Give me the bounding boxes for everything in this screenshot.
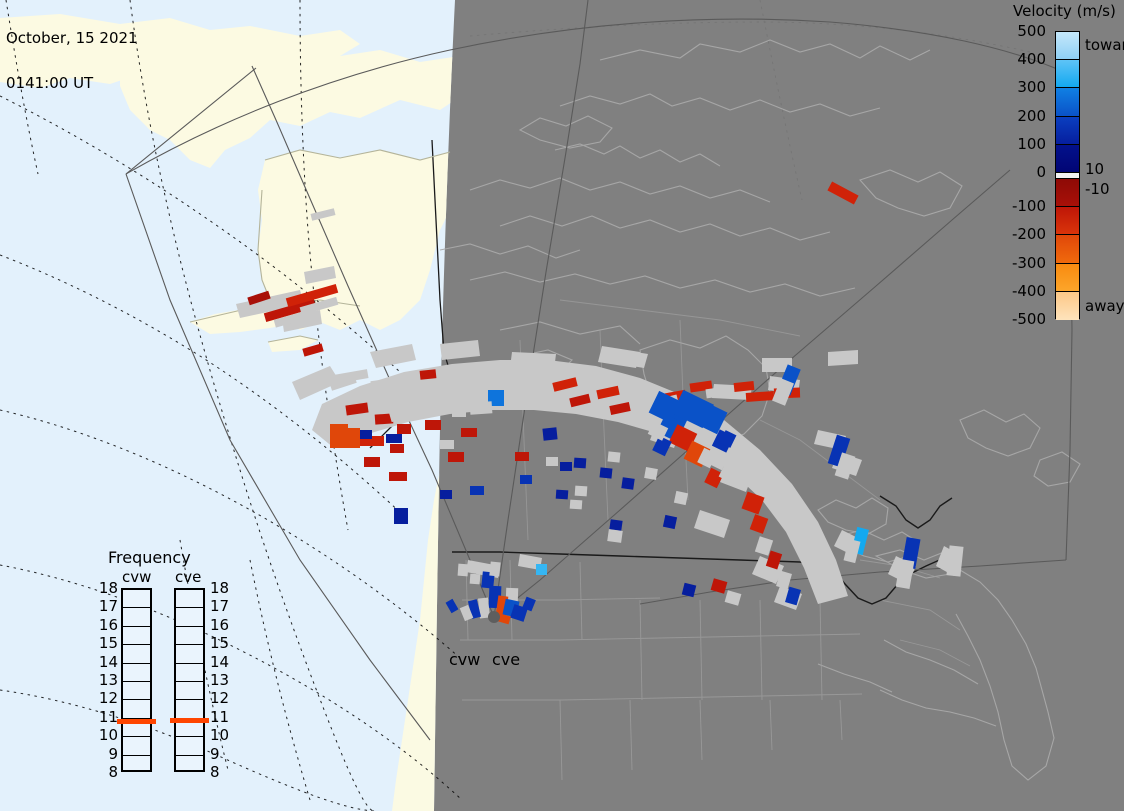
radar-origin-marker (488, 611, 500, 623)
timestamp: October, 15 2021 0141:00 UT (6, 1, 138, 121)
frequency-tick-right-11: 11 (210, 708, 229, 726)
frequency-tick-left-14: 14 (96, 653, 118, 671)
colorbar-band-350 (1056, 60, 1079, 88)
frequency-tick-left-8: 8 (96, 763, 118, 781)
frequency-segment (176, 664, 203, 682)
timestamp-date: October, 15 2021 (6, 31, 138, 46)
frequency-segment (176, 700, 203, 718)
colorbar-band-450 (1056, 32, 1079, 60)
frequency-tick-right-13: 13 (210, 671, 229, 689)
frequency-tick-left-16: 16 (96, 616, 118, 634)
radar-map-canvas: October, 15 2021 0141:00 UT Velocity (m/… (0, 0, 1124, 811)
frequency-tick-right-12: 12 (210, 689, 229, 707)
colorbar-band-50 (1056, 145, 1079, 173)
velocity-colorbar: Velocity (m/s) 5004003002001000-100-200-… (1005, 0, 1124, 330)
frequency-tick-right-16: 16 (210, 616, 229, 634)
colorbar-tick-0: 0 (1036, 163, 1046, 181)
frequency-tick-right-18: 18 (210, 579, 229, 597)
timestamp-time: 0141:00 UT (6, 76, 138, 91)
colorbar-band--50 (1056, 179, 1079, 207)
frequency-tick-left-9: 9 (96, 745, 118, 763)
frequency-box-cve (174, 588, 205, 772)
frequency-segment (123, 590, 150, 608)
frequency-tick-right-8: 8 (210, 763, 220, 781)
frequency-tick-left-18: 18 (96, 579, 118, 597)
frequency-segment (176, 756, 203, 774)
colorbar-tick-400: 400 (1017, 50, 1046, 68)
frequency-marker-cvw (117, 719, 156, 724)
frequency-tick-right-14: 14 (210, 653, 229, 671)
frequency-box-cvw (121, 588, 152, 772)
frequency-column-label-cvw: cvw (122, 568, 151, 586)
frequency-tick-right-9: 9 (210, 745, 220, 763)
frequency-tick-left-10: 10 (96, 726, 118, 744)
colorbar-tick--500: -500 (1012, 310, 1046, 328)
frequency-segment (176, 627, 203, 645)
colorbar-tick-300: 300 (1017, 78, 1046, 96)
colorbar-band-250 (1056, 88, 1079, 116)
frequency-tick-right-10: 10 (210, 726, 229, 744)
colorbar-tick-500: 500 (1017, 22, 1046, 40)
frequency-tick-left-11: 11 (96, 708, 118, 726)
frequency-title: Frequency (108, 548, 191, 567)
frequency-segment (123, 664, 150, 682)
frequency-segment (123, 627, 150, 645)
colorbar-band--450 (1056, 292, 1079, 320)
frequency-segment (176, 645, 203, 663)
colorbar-threshold-low: -10 (1085, 180, 1110, 198)
frequency-segment (176, 682, 203, 700)
site-label-cvw: cvw (449, 650, 480, 669)
colorbar-band--350 (1056, 264, 1079, 292)
frequency-segment (176, 608, 203, 626)
colorbar-band--250 (1056, 235, 1079, 263)
frequency-column-label-cve: cve (175, 568, 201, 586)
colorbar-band--150 (1056, 207, 1079, 235)
frequency-segment (176, 590, 203, 608)
colorbar-title: Velocity (m/s) (1013, 2, 1116, 20)
frequency-segment (123, 700, 150, 718)
colorbar-tick-100: 100 (1017, 135, 1046, 153)
colorbar-band-150 (1056, 117, 1079, 145)
colorbar-toward-label: toward (1085, 36, 1124, 54)
frequency-tick-right-15: 15 (210, 634, 229, 652)
frequency-tick-left-15: 15 (96, 634, 118, 652)
colorbar-tick--100: -100 (1012, 197, 1046, 215)
frequency-segment (123, 645, 150, 663)
frequency-tick-left-12: 12 (96, 689, 118, 707)
site-label-cve: cve (492, 650, 520, 669)
colorbar-gradient (1055, 31, 1080, 319)
frequency-tick-left-17: 17 (96, 597, 118, 615)
frequency-panel: Frequency cvwcve181817171616151514141313… (86, 548, 246, 783)
colorbar-away-label: away (1085, 297, 1124, 315)
colorbar-tick--400: -400 (1012, 282, 1046, 300)
frequency-tick-right-17: 17 (210, 597, 229, 615)
colorbar-tick-200: 200 (1017, 107, 1046, 125)
colorbar-tick--300: -300 (1012, 254, 1046, 272)
frequency-segment (123, 608, 150, 626)
frequency-tick-left-13: 13 (96, 671, 118, 689)
colorbar-tick--200: -200 (1012, 225, 1046, 243)
frequency-segment (176, 737, 203, 755)
frequency-segment (123, 682, 150, 700)
frequency-segment (123, 737, 150, 755)
frequency-marker-cve (170, 718, 209, 723)
frequency-segment (123, 756, 150, 774)
colorbar-threshold-high: 10 (1085, 160, 1104, 178)
